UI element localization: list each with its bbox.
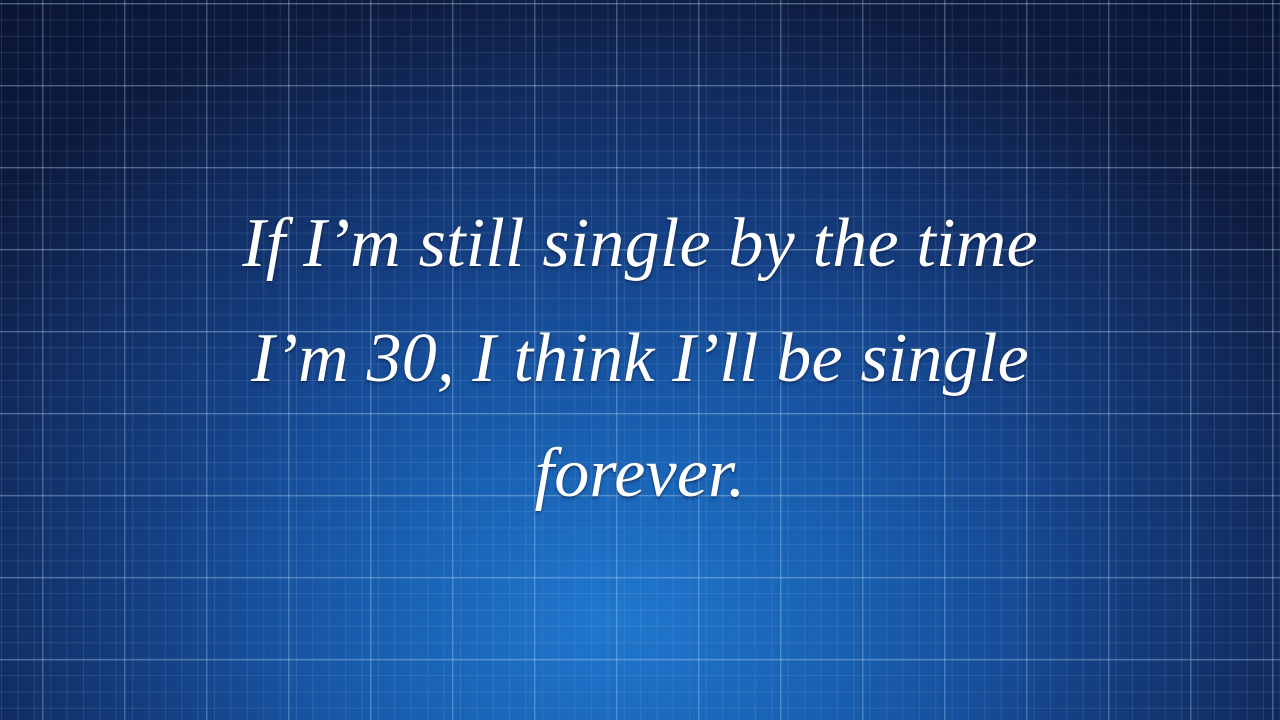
quote-line-1: If I’m still single by the time xyxy=(100,186,1180,301)
quote-text-block: If I’m still single by the time I’m 30, … xyxy=(0,186,1280,531)
quote-line-3: forever. xyxy=(100,416,1180,531)
quote-slide: If I’m still single by the time I’m 30, … xyxy=(0,0,1280,720)
quote-line-2: I’m 30, I think I’ll be single xyxy=(100,301,1180,416)
